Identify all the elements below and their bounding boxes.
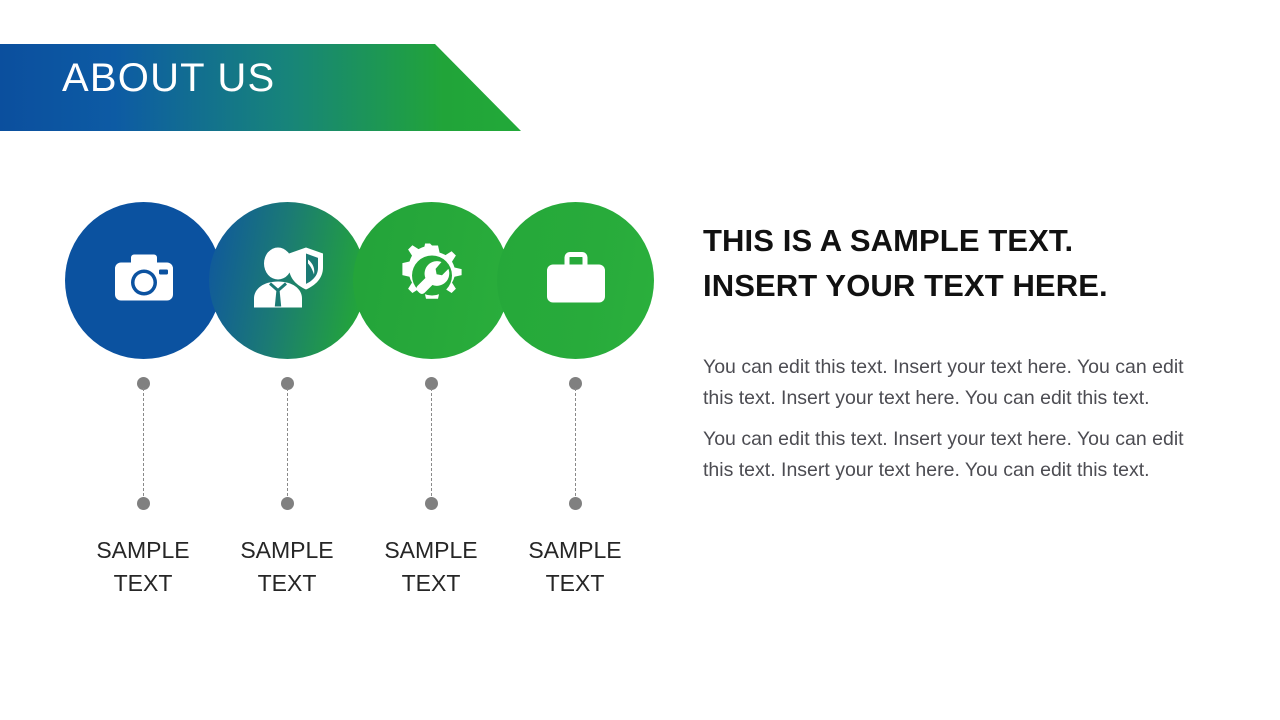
step-label-1: SAMPLE TEXT xyxy=(63,534,223,600)
step-label-line1: SAMPLE xyxy=(207,534,367,567)
content-heading-line1: THIS IS A SAMPLE TEXT. xyxy=(703,223,1073,258)
step-label-3: SAMPLE TEXT xyxy=(351,534,511,600)
step-label-4: SAMPLE TEXT xyxy=(495,534,655,600)
person-shield-icon xyxy=(250,245,326,316)
content-paragraph-2: You can edit this text. Insert your text… xyxy=(703,424,1208,486)
content-block: THIS IS A SAMPLE TEXT. INSERT YOUR TEXT … xyxy=(703,218,1208,486)
connector-line xyxy=(287,388,288,501)
page-title: ABOUT US xyxy=(62,58,275,98)
step-circle-1[interactable] xyxy=(65,202,222,359)
connector-line xyxy=(143,388,144,501)
step-label-line2: TEXT xyxy=(207,567,367,600)
step-label-line2: TEXT xyxy=(63,567,223,600)
step-circle-3[interactable] xyxy=(353,202,510,359)
step-label-line2: TEXT xyxy=(351,567,511,600)
gear-wrench-icon xyxy=(397,243,467,318)
step-circle-4[interactable] xyxy=(497,202,654,359)
step-label-line2: TEXT xyxy=(495,567,655,600)
content-heading-line2: INSERT YOUR TEXT HERE. xyxy=(703,268,1108,303)
connector-dot-bottom xyxy=(137,497,150,510)
connector-dot-bottom xyxy=(425,497,438,510)
briefcase-icon xyxy=(543,248,609,313)
step-label-2: SAMPLE TEXT xyxy=(207,534,367,600)
content-paragraph-1: You can edit this text. Insert your text… xyxy=(703,352,1208,414)
content-heading: THIS IS A SAMPLE TEXT. INSERT YOUR TEXT … xyxy=(703,218,1208,308)
connector-dot-bottom xyxy=(281,497,294,510)
step-label-line1: SAMPLE xyxy=(495,534,655,567)
connector-line xyxy=(431,388,432,501)
step-label-line1: SAMPLE xyxy=(351,534,511,567)
camera-icon xyxy=(109,250,179,311)
step-label-line1: SAMPLE xyxy=(63,534,223,567)
connector-dot-bottom xyxy=(569,497,582,510)
step-circle-2[interactable] xyxy=(209,202,366,359)
connector-line xyxy=(575,388,576,501)
